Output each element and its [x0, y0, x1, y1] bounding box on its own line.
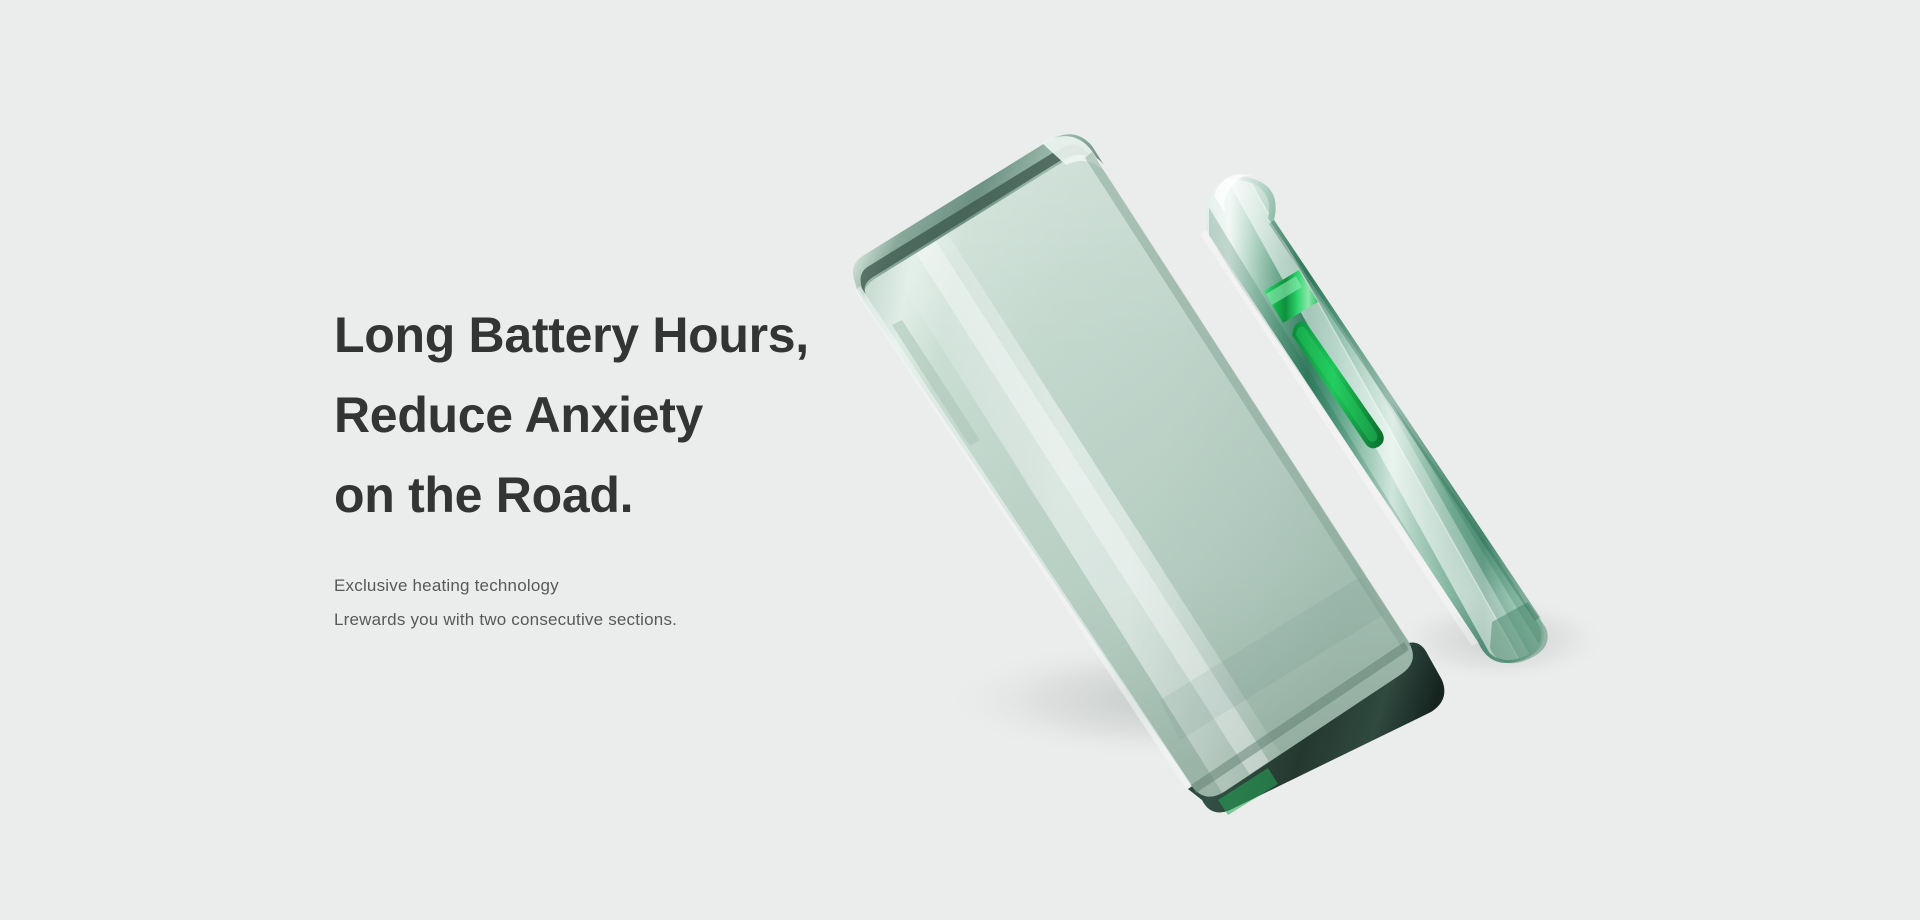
case-corner-highlight — [1042, 136, 1111, 180]
stick-body-shading — [1206, 177, 1544, 663]
headline-line-1: Long Battery Hours, — [334, 295, 974, 375]
case-right-edge-shade — [1085, 152, 1411, 651]
hero-headline: Long Battery Hours, Reduce Anxiety on th… — [334, 295, 974, 535]
stick-body — [1206, 177, 1544, 663]
headline-line-2: Reduce Anxiety — [334, 375, 974, 455]
product-shadows — [940, 596, 1610, 762]
case-bottom-green-accent — [1218, 768, 1278, 815]
stick-specular — [1196, 162, 1548, 672]
stick-top-highlight — [1214, 174, 1252, 214]
case-bottom-seam — [1191, 642, 1409, 793]
subcopy-line-2: Lrewards you with two consecutive sectio… — [334, 603, 974, 637]
heating-device-stick — [1196, 162, 1548, 672]
hero-copy-block: Long Battery Hours, Reduce Anxiety on th… — [334, 295, 974, 637]
led-status-indicator — [1292, 322, 1384, 449]
hero-subcopy: Exclusive heating technology Lrewards yo… — [334, 569, 974, 637]
subcopy-line-1: Exclusive heating technology — [334, 569, 974, 603]
stick-bottom-cap — [1490, 602, 1548, 663]
case-lid-rim — [853, 134, 1104, 300]
hero-section: Long Battery Hours, Reduce Anxiety on th… — [0, 0, 1920, 920]
case-bottom-cap — [1188, 643, 1444, 813]
case-lid-seam — [861, 145, 1093, 295]
stick-left-seam — [1200, 230, 1478, 646]
stick-accent-ring — [1264, 270, 1318, 323]
headline-line-3: on the Road. — [334, 455, 974, 535]
stick-right-seam — [1269, 220, 1540, 621]
